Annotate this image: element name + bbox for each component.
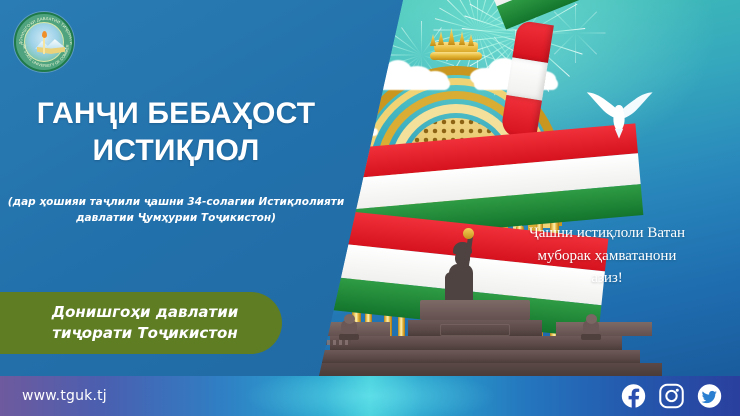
instagram-icon[interactable]	[659, 384, 684, 409]
website-url[interactable]: www.tguk.tj	[22, 388, 107, 404]
lion-statue	[338, 314, 360, 340]
logo-ring-text: ДОНИШГОҲИ ДАВЛАТИИ ТИҶОРАТИ TAJIK STATE …	[16, 14, 74, 72]
greeting-line-1: Ҷашни истиқлоли Ватан	[492, 222, 722, 245]
university-logo: ДОНИШГОҲИ ДАВЛАТИИ ТИҶОРАТИ TAJIK STATE …	[14, 12, 74, 72]
golden-crown-icon	[428, 28, 484, 62]
greeting-message: Ҷашни истиқлоли Ватан муборак ҳамватанон…	[492, 222, 722, 290]
greeting-line-3: азиз!	[492, 267, 722, 290]
svg-text:ДОНИШГОҲИ ДАВЛАТИИ ТИҶОРАТИ: ДОНИШГОҲИ ДАВЛАТИИ ТИҶОРАТИ	[18, 16, 74, 45]
subtitle-line-1: (дар ҳошияи таҷлили ҷашни 34-солагии Ист…	[6, 194, 346, 210]
footer-bar: www.tguk.tj	[0, 376, 740, 416]
white-dove-icon	[584, 84, 654, 140]
banner-line-1: Донишгоҳи давлатии	[52, 302, 239, 323]
organization-banner-text: Донишгоҳи давлатии тиҷорати Тоҷикистон	[18, 302, 245, 345]
organization-banner: Донишгоҳи давлатии тиҷорати Тоҷикистон	[0, 292, 282, 354]
lion-statue	[580, 314, 602, 340]
page-title: ГАНҶИ БЕБАҲОСТ ИСТИҚЛОЛ	[0, 96, 352, 169]
poster: ДОНИШГОҲИ ДАВЛАТИИ ТИҶОРАТИ TAJIK STATE …	[0, 0, 740, 416]
subtitle-line-2: давлатии Ҷумҳурии Тоҷикистон)	[6, 210, 346, 226]
twitter-icon[interactable]	[697, 384, 722, 409]
headline-line-1: ГАНҶИ БЕБАҲОСТ	[37, 97, 315, 130]
social-links	[621, 384, 722, 409]
banner-line-2: тиҷорати Тоҷикистон	[52, 323, 239, 344]
headline-line-2: ИСТИҚЛОЛ	[0, 133, 352, 170]
greeting-line-2: муборак ҳамватанони	[492, 245, 722, 268]
facebook-icon[interactable]	[621, 384, 646, 409]
subtitle: (дар ҳошияи таҷлили ҷашни 34-солагии Ист…	[6, 194, 346, 227]
